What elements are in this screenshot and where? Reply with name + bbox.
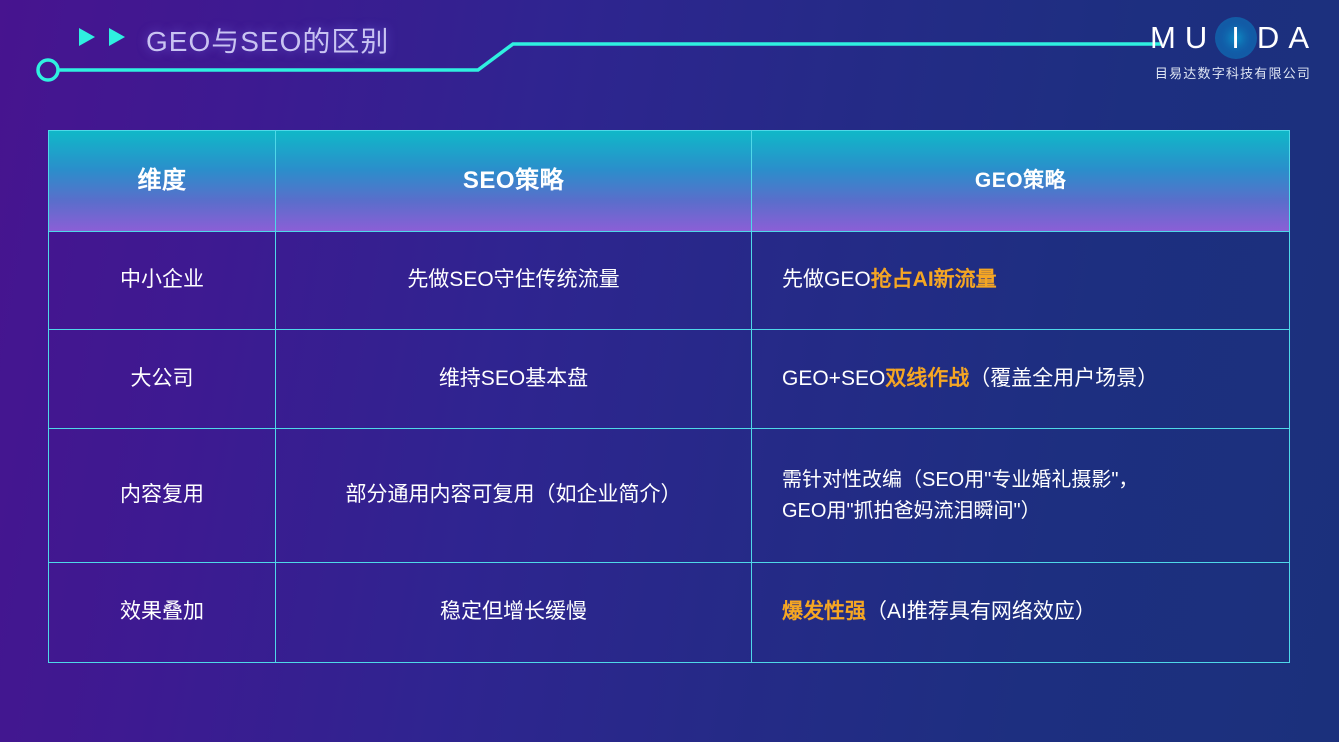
- cell-dimension: 中小企业: [49, 232, 276, 329]
- table-row: 内容复用 部分通用内容可复用（如企业简介） 需针对性改编（SEO用"专业婚礼摄影…: [49, 429, 1289, 563]
- cell-text: 大公司: [131, 363, 194, 396]
- column-header-seo: SEO策略: [276, 131, 752, 231]
- cell-text: 先做SEO守住传统流量: [407, 264, 619, 297]
- cell-text: 中小企业: [120, 264, 204, 297]
- cell-geo: 需针对性改编（SEO用"专业婚礼摄影"， GEO用"抓拍爸妈流泪瞬间"）: [752, 429, 1289, 562]
- logo-letter-m: M: [1150, 20, 1183, 56]
- table-row: 效果叠加 稳定但增长缓慢 爆发性强（AI推荐具有网络效应）: [49, 563, 1289, 662]
- comparison-table: 维度 SEO策略 GEO策略 中小企业 先做SEO守住传统流量 先做GEO抢占A…: [48, 130, 1290, 663]
- cell-seo: 稳定但增长缓慢: [276, 563, 752, 662]
- double-triangle-right-icon: [76, 26, 128, 48]
- logo-orb-icon: I: [1217, 17, 1254, 59]
- geo-segment: GEO+SEO: [782, 367, 885, 390]
- cell-text: 稳定但增长缓慢: [440, 596, 587, 629]
- cell-geo: 先做GEO抢占AI新流量: [752, 232, 1289, 329]
- cell-seo: 维持SEO基本盘: [276, 330, 752, 428]
- logo-subtitle: 目易达数字科技有限公司: [1149, 63, 1317, 82]
- geo-segment-highlight: 爆发性强: [782, 600, 866, 623]
- slide-header: GEO与SEO的区别 M U I D A 目易达数字科技有限公司: [0, 0, 1339, 112]
- cell-dimension: 效果叠加: [49, 563, 276, 662]
- column-header-label: 维度: [138, 162, 187, 199]
- cell-text: 效果叠加: [120, 596, 204, 629]
- cell-geo: 爆发性强（AI推荐具有网络效应）: [752, 563, 1289, 662]
- cell-seo: 部分通用内容可复用（如企业简介）: [276, 429, 752, 562]
- table-row: 大公司 维持SEO基本盘 GEO+SEO双线作战（覆盖全用户场景）: [49, 330, 1289, 429]
- cell-geo: GEO+SEO双线作战（覆盖全用户场景）: [752, 330, 1289, 428]
- column-header-label: GEO策略: [975, 165, 1066, 198]
- table-header-row: 维度 SEO策略 GEO策略: [49, 131, 1289, 232]
- cell-seo: 先做SEO守住传统流量: [276, 232, 752, 329]
- cell-text: GEO+SEO双线作战（覆盖全用户场景）: [782, 363, 1158, 396]
- cell-text: 部分通用内容可复用（如企业简介）: [346, 479, 682, 512]
- logo-letter-u: U: [1185, 20, 1214, 56]
- logo-letter-d: D: [1257, 20, 1286, 56]
- cell-text: 先做GEO抢占AI新流量: [782, 264, 997, 297]
- cell-text: 维持SEO基本盘: [439, 363, 588, 396]
- geo-line-1: 需针对性改编（SEO用"专业婚礼摄影"，: [782, 469, 1138, 491]
- cell-dimension: 大公司: [49, 330, 276, 428]
- geo-segment: （AI推荐具有网络效应）: [866, 600, 1096, 623]
- column-header-label: SEO策略: [463, 162, 564, 199]
- table-row: 中小企业 先做SEO守住传统流量 先做GEO抢占AI新流量: [49, 232, 1289, 330]
- geo-segment-highlight: 抢占AI新流量: [871, 268, 997, 291]
- cell-text: 爆发性强（AI推荐具有网络效应）: [782, 596, 1096, 629]
- geo-segment-highlight: 双线作战: [885, 367, 969, 390]
- column-header-dimension: 维度: [49, 131, 276, 231]
- company-logo: M U I D A 目易达数字科技有限公司: [1149, 16, 1317, 82]
- geo-segment: 先做GEO: [782, 268, 871, 291]
- column-header-geo: GEO策略: [752, 131, 1289, 231]
- page-title: GEO与SEO的区别: [146, 20, 389, 60]
- logo-letter-i: I: [1231, 20, 1240, 56]
- cell-dimension: 内容复用: [49, 429, 276, 562]
- cell-text: 内容复用: [120, 479, 204, 512]
- logo-letter-a: A: [1288, 20, 1316, 56]
- geo-line-2: GEO用"抓拍爸妈流泪瞬间"）: [782, 500, 1041, 522]
- geo-segment: （覆盖全用户场景）: [969, 367, 1158, 390]
- logo-wordmark: M U I D A: [1149, 16, 1317, 60]
- cell-text: 需针对性改编（SEO用"专业婚礼摄影"， GEO用"抓拍爸妈流泪瞬间"）: [782, 465, 1138, 527]
